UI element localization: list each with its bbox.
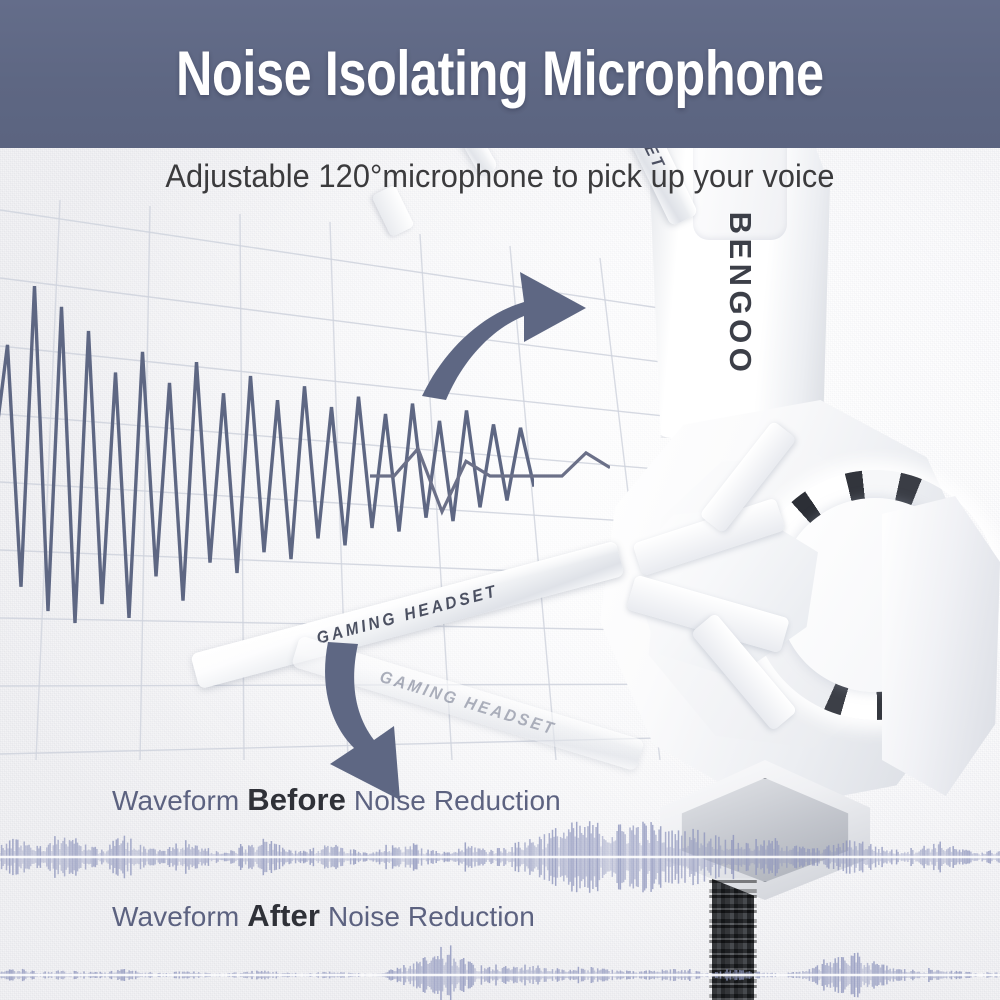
- ear-cup-outer-wing: [882, 496, 1000, 796]
- chart-waveform-after-noise-reduction: [0, 938, 1000, 1000]
- waveform-after-suffix: Noise Reduction: [320, 901, 535, 932]
- chart-waveform-before-noise-reduction: [0, 820, 1000, 894]
- rotate-up-arrow-icon: [420, 250, 620, 400]
- header-band: Noise Isolating Microphone: [0, 0, 1000, 148]
- waveform-before-suffix: Noise Reduction: [346, 785, 561, 816]
- waveform-after-strong: After: [247, 898, 320, 933]
- brand-logo-text: BENGOO: [722, 212, 758, 377]
- product-feature-image: BENGOO GAMING HEADSET GAMING HEADSET: [0, 0, 1000, 1000]
- waveform-after-prefix: Waveform: [112, 901, 247, 932]
- waveform-before-prefix: Waveform: [112, 785, 247, 816]
- waveform-after-label: Waveform After Noise Reduction: [112, 898, 535, 934]
- page-title: Noise Isolating Microphone: [176, 43, 824, 106]
- ear-cup: [600, 400, 980, 810]
- waveform-before-strong: Before: [247, 782, 346, 817]
- waveform-before-label: Waveform Before Noise Reduction: [112, 782, 561, 818]
- subtitle: Adjustable 120°microphone to pick up you…: [20, 158, 980, 195]
